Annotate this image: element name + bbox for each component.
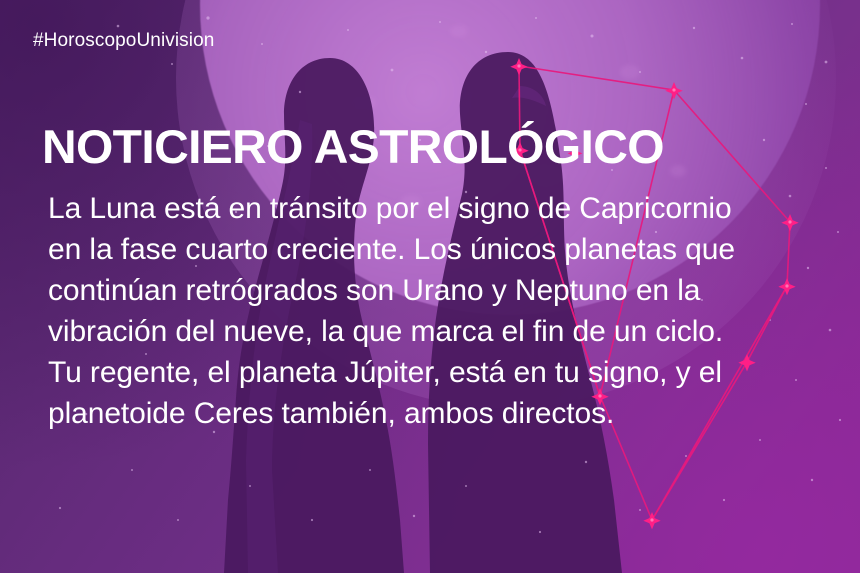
body-line: continúan retrógrados son Urano y Neptun… <box>48 270 838 311</box>
body-line: vibración del nueve, la que marca el fin… <box>48 311 838 352</box>
hashtag-label: #HoroscopoUnivision <box>33 30 214 52</box>
body-line: planetoide Ceres también, ambos directos… <box>48 393 838 434</box>
body-line: Tu regente, el planeta Júpiter, está en … <box>48 352 838 393</box>
body-line: en la fase cuarto creciente. Los únicos … <box>48 229 838 270</box>
body-line: La Luna está en tránsito por el signo de… <box>48 188 838 229</box>
page-title: NOTICIERO ASTROLÓGICO <box>42 119 664 174</box>
horoscope-poster: #HoroscopoUnivision NOTICIERO ASTROLÓGIC… <box>0 0 860 573</box>
horoscope-body-text: La Luna está en tránsito por el signo de… <box>48 188 838 434</box>
